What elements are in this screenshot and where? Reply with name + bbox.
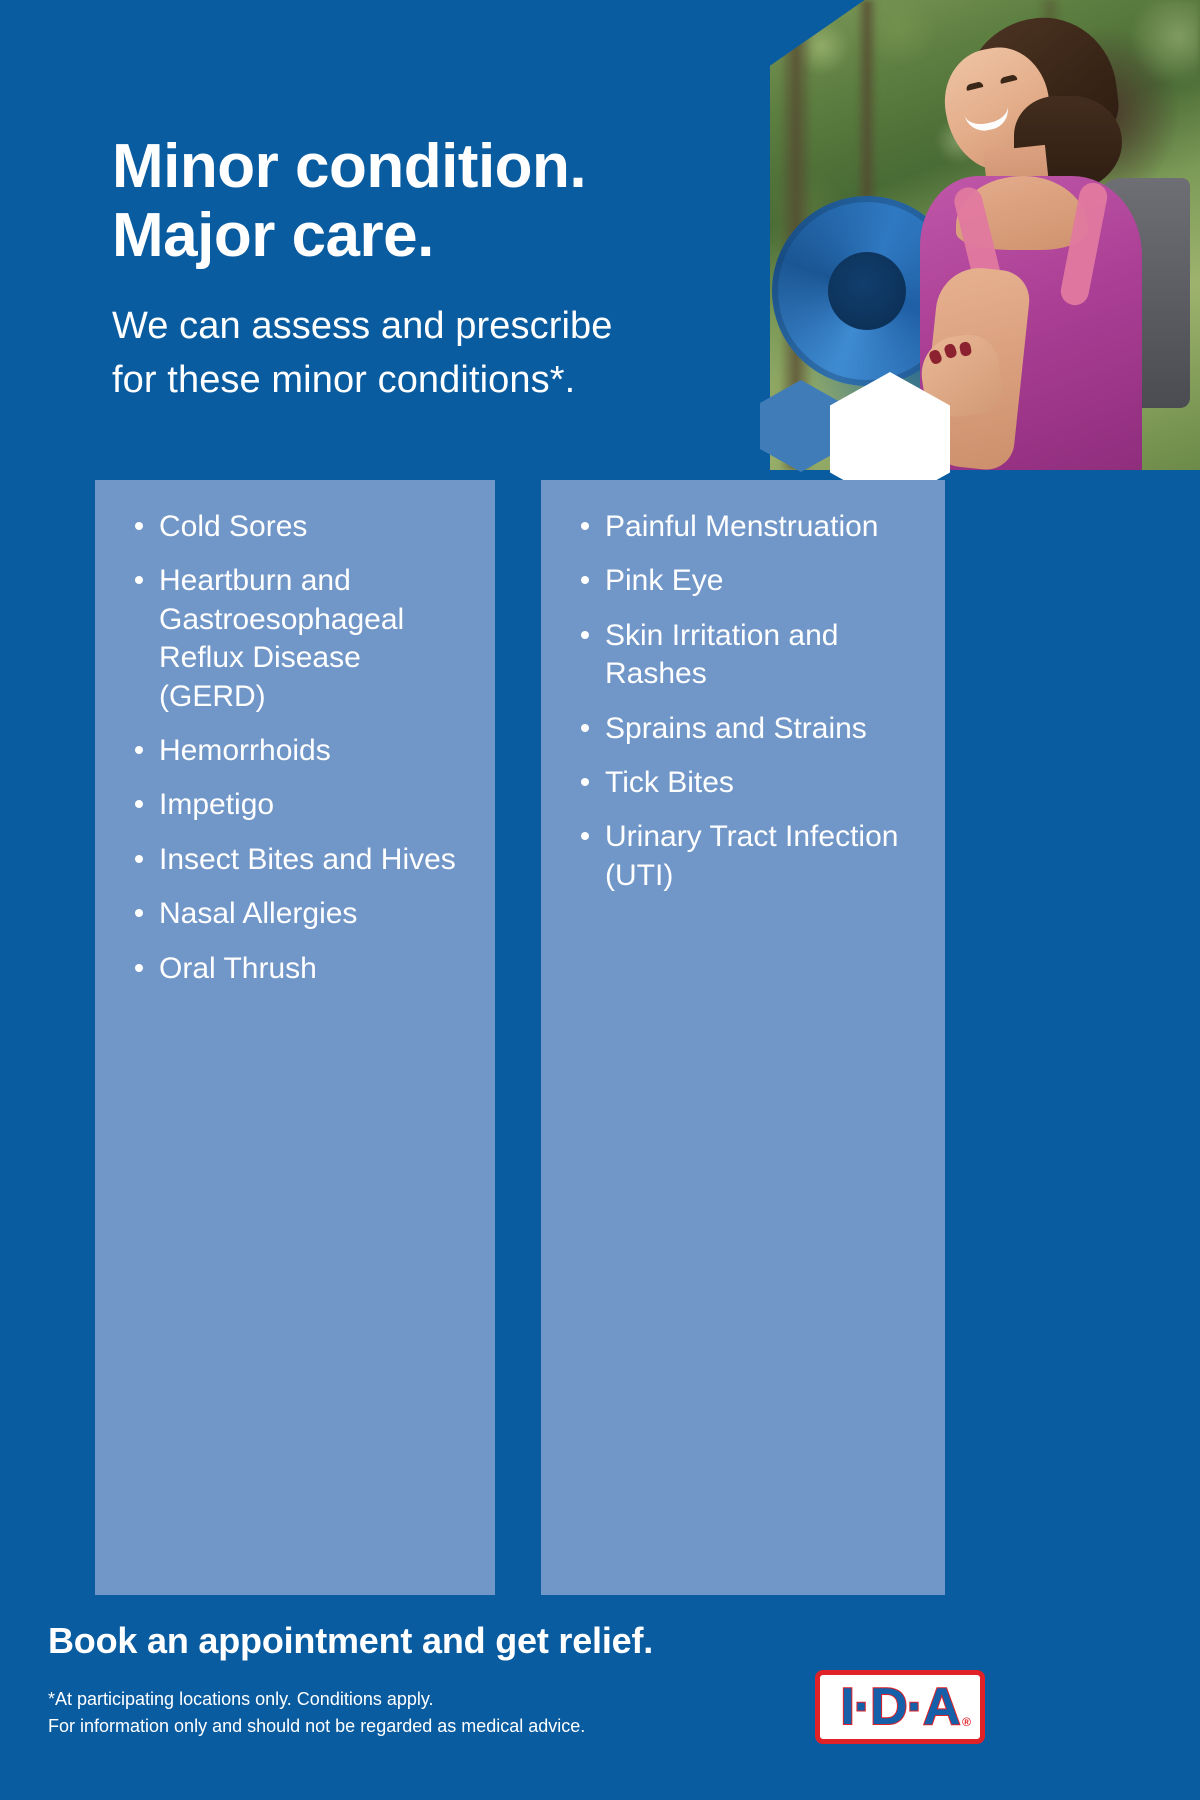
conditions-panel-left: Cold SoresHeartburn and Gastroesophageal…: [95, 480, 495, 1595]
condition-item: Insect Bites and Hives: [133, 841, 473, 879]
condition-label: Insect Bites and Hives: [159, 843, 456, 876]
bullet-icon: [581, 778, 589, 786]
condition-label: Urinary Tract Infection (UTI): [605, 820, 898, 891]
condition-item: Pink Eye: [579, 562, 923, 600]
condition-item: Tick Bites: [579, 764, 923, 802]
bullet-icon: [135, 522, 143, 530]
page-title: Minor condition. Major care.: [112, 132, 586, 271]
condition-item: Skin Irritation and Rashes: [579, 617, 923, 694]
bullet-icon: [581, 832, 589, 840]
conditions-list-right: Painful MenstruationPink EyeSkin Irritat…: [541, 480, 945, 895]
condition-label: Skin Irritation and Rashes: [605, 619, 838, 690]
bullet-icon: [135, 855, 143, 863]
bullet-icon: [135, 964, 143, 972]
condition-item: Heartburn and Gastroesophageal Reflux Di…: [133, 562, 473, 716]
headline-line-1: Minor condition.: [112, 132, 586, 201]
bullet-icon: [581, 724, 589, 732]
condition-label: Sprains and Strains: [605, 712, 867, 745]
condition-item: Painful Menstruation: [579, 508, 923, 546]
condition-item: Nasal Allergies: [133, 895, 473, 933]
headline-line-2: Major care.: [112, 201, 434, 270]
condition-label: Nasal Allergies: [159, 897, 357, 930]
condition-item: Hemorrhoids: [133, 732, 473, 770]
bullet-icon: [581, 631, 589, 639]
subheading-line-1: We can assess and prescribe: [112, 305, 612, 347]
condition-label: Painful Menstruation: [605, 510, 879, 543]
registered-trademark-icon: ®: [962, 1715, 971, 1729]
condition-label: Impetigo: [159, 788, 274, 821]
condition-label: Cold Sores: [159, 510, 307, 543]
cta-text: Book an appointment and get relief.: [48, 1620, 653, 1662]
disclaimer-line-1: *At participating locations only. Condit…: [48, 1689, 434, 1709]
conditions-list-left: Cold SoresHeartburn and Gastroesophageal…: [95, 480, 495, 988]
subheading-line-2: for these minor conditions*.: [112, 359, 575, 401]
condition-label: Pink Eye: [605, 564, 723, 597]
ida-logo: I·D·A ®: [815, 1670, 985, 1744]
bullet-icon: [135, 576, 143, 584]
bullet-icon: [135, 909, 143, 917]
condition-label: Tick Bites: [605, 766, 734, 799]
disclaimer-line-2: For information only and should not be r…: [48, 1716, 585, 1736]
bullet-icon: [135, 800, 143, 808]
subheading: We can assess and prescribe for these mi…: [112, 300, 612, 408]
bullet-icon: [135, 746, 143, 754]
condition-item: Cold Sores: [133, 508, 473, 546]
condition-label: Heartburn and Gastroesophageal Reflux Di…: [159, 564, 404, 712]
condition-item: Sprains and Strains: [579, 710, 923, 748]
condition-item: Urinary Tract Infection (UTI): [579, 818, 923, 895]
ida-logo-text: I·D·A: [840, 1677, 959, 1737]
conditions-panel-right: Painful MenstruationPink EyeSkin Irritat…: [541, 480, 945, 1595]
bullet-icon: [581, 576, 589, 584]
poster-root: Minor condition. Major care. We can asse…: [0, 0, 1200, 1800]
bullet-icon: [581, 522, 589, 530]
condition-label: Oral Thrush: [159, 952, 317, 985]
disclaimer: *At participating locations only. Condit…: [48, 1686, 585, 1740]
condition-label: Hemorrhoids: [159, 734, 331, 767]
yoga-mat-core: [828, 252, 906, 330]
condition-item: Impetigo: [133, 786, 473, 824]
condition-item: Oral Thrush: [133, 950, 473, 988]
